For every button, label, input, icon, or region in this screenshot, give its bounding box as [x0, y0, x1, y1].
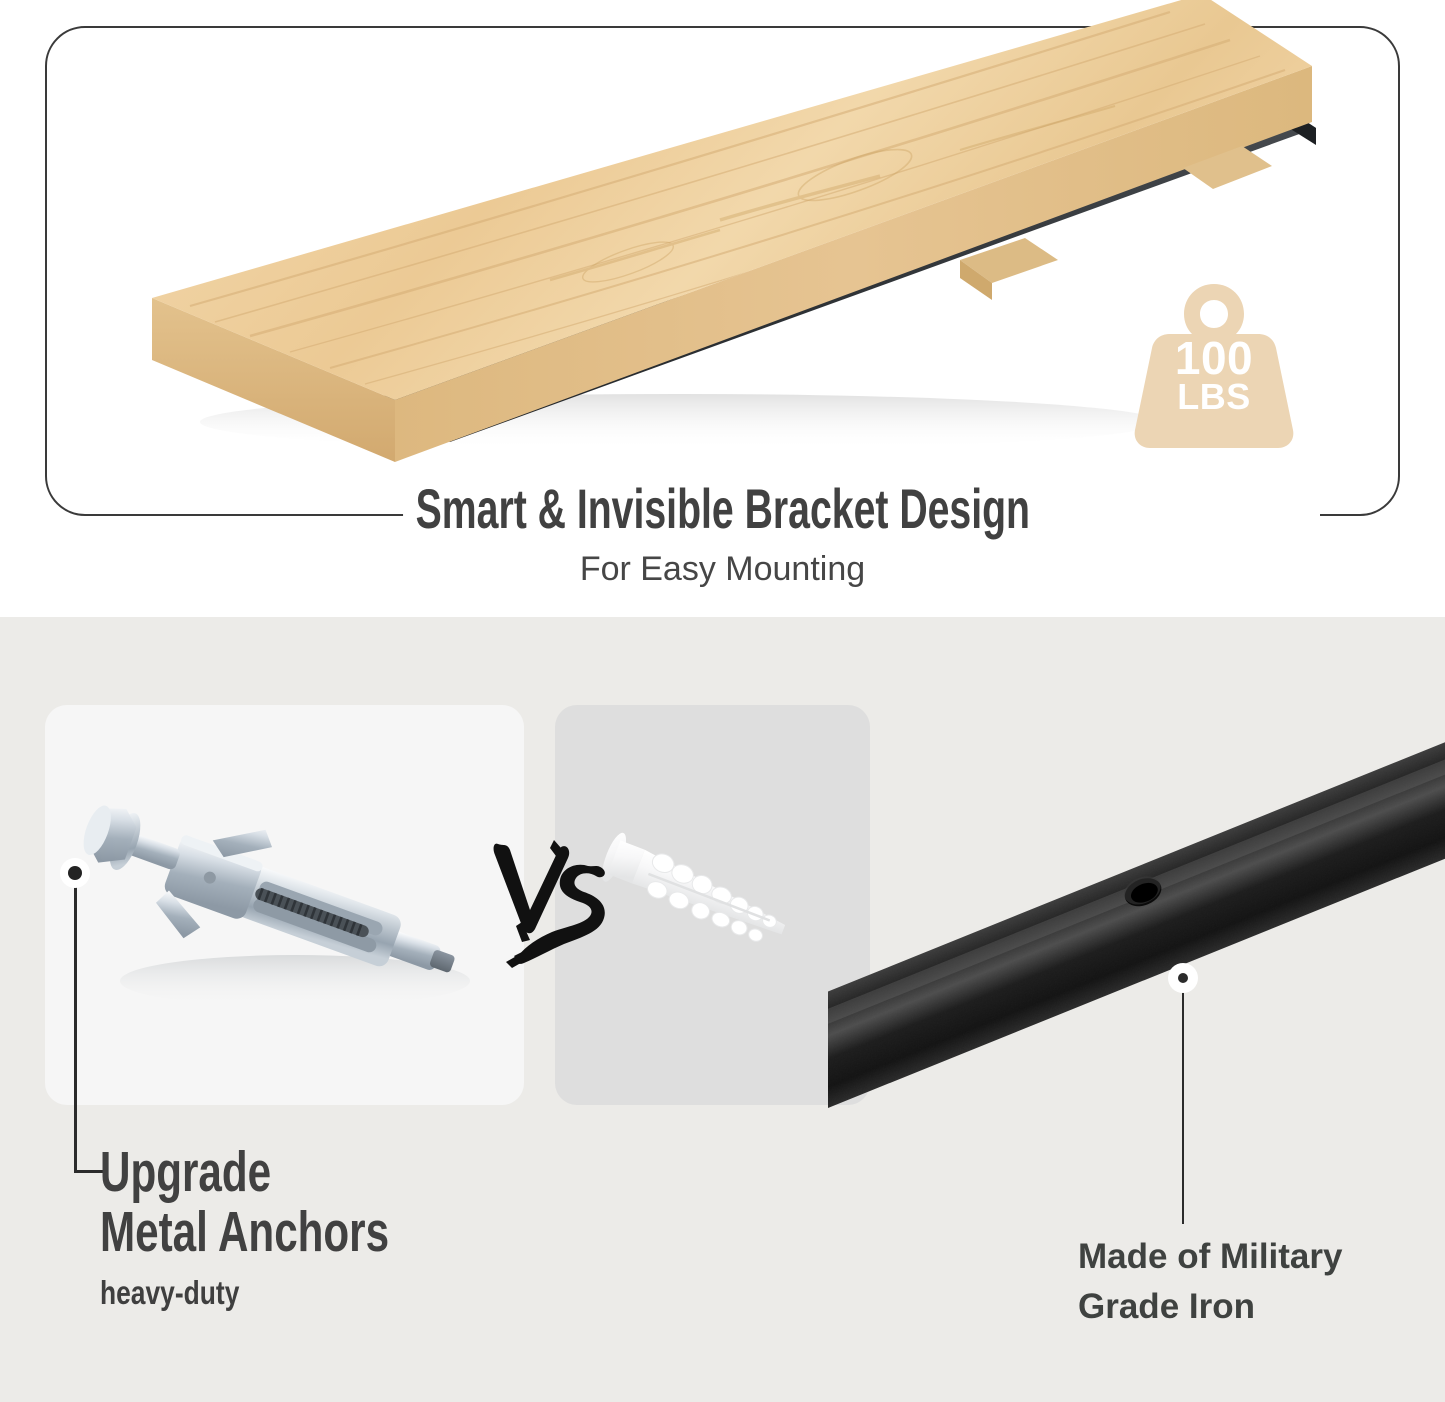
- versus-icon: [470, 822, 650, 982]
- metal-anchor-callout-dot: [60, 858, 90, 888]
- iron-pipe-caption-line2: Grade Iron: [1078, 1282, 1342, 1332]
- metal-anchor-leader-line: [74, 873, 77, 1173]
- metal-anchor-caption-line2: Metal Anchors: [100, 1202, 389, 1262]
- iron-pipe-caption: Made of Military Grade Iron: [1078, 1232, 1342, 1332]
- headline-subtitle: For Easy Mounting: [0, 549, 1445, 589]
- metal-anchor-caption: Upgrade Metal Anchors heavy-duty: [100, 1142, 491, 1312]
- iron-pipe-image: [828, 695, 1445, 1165]
- top-feature-section: 100 LBS Smart & Invisible Bracket Design…: [0, 0, 1445, 617]
- iron-pipe-leader-line: [1182, 992, 1184, 1224]
- headline-title: Smart & Invisible Bracket Design: [403, 481, 1043, 537]
- weight-unit: LBS: [1128, 379, 1300, 415]
- iron-pipe-callout-ring: [1168, 963, 1198, 993]
- product-infographic: 100 LBS Smart & Invisible Bracket Design…: [0, 0, 1445, 1402]
- iron-pipe-caption-line1: Made of Military: [1078, 1232, 1342, 1282]
- weight-number: 100: [1128, 335, 1300, 381]
- metal-anchor-image: [45, 705, 524, 1105]
- bottom-feature-section: Upgrade Metal Anchors heavy-duty Made of…: [0, 617, 1445, 1402]
- weight-capacity-badge: 100 LBS: [1128, 278, 1300, 450]
- metal-anchor-caption-line1: Upgrade: [100, 1142, 389, 1202]
- headline-row: Smart & Invisible Bracket Design: [0, 481, 1445, 537]
- metal-anchor-caption-sub: heavy-duty: [100, 1274, 413, 1312]
